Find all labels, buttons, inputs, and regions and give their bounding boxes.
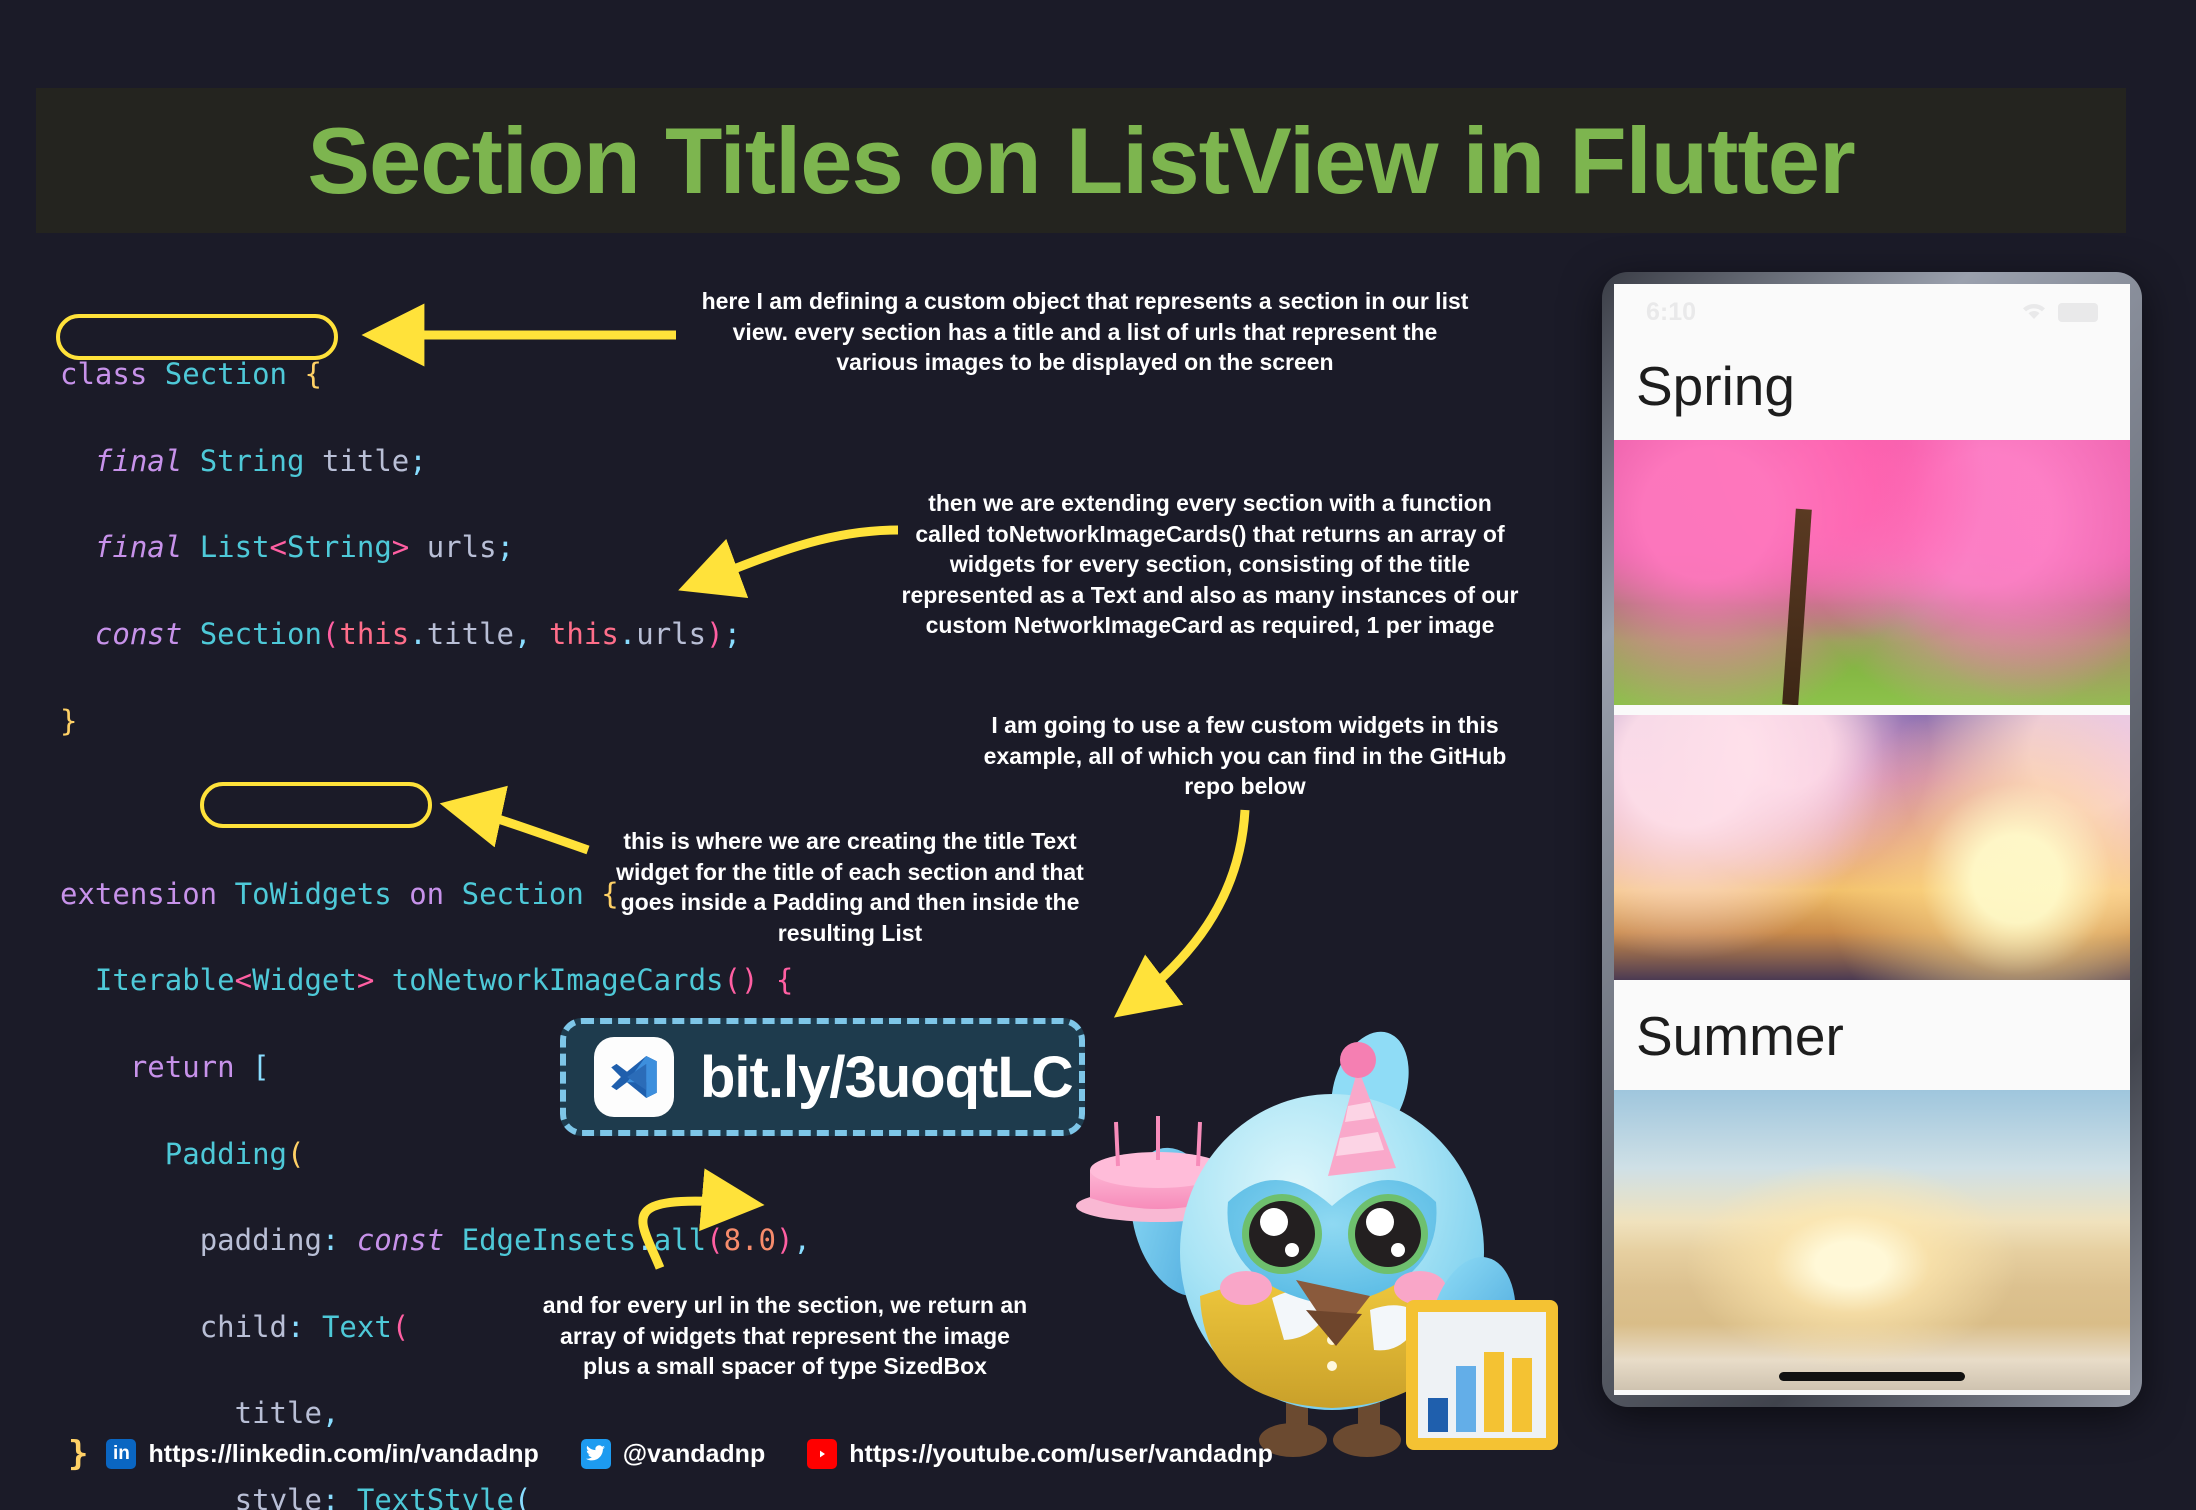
photo-beach-sunrise[interactable] <box>1614 1090 2130 1390</box>
annotation-extension: then we are extending every section with… <box>895 488 1525 641</box>
section-title-spring: Spring <box>1614 340 2130 440</box>
home-indicator[interactable] <box>1779 1372 1965 1381</box>
phone-screen: 6:10 Spring Summer <box>1614 284 2130 1395</box>
status-bar: 6:10 <box>1614 284 2130 340</box>
footer-links: } in https://linkedin.com/in/vandadnp @v… <box>68 1434 1273 1474</box>
vscode-icon <box>594 1037 674 1117</box>
twitter-icon[interactable] <box>581 1439 611 1469</box>
twitter-handle[interactable]: @vandadnp <box>623 1440 765 1469</box>
annotation-sizedbox: and for every url in the section, we ret… <box>540 1290 1030 1382</box>
annotation-class-section: here I am defining a custom object that … <box>700 286 1470 378</box>
flutter-bird-mascot <box>1040 1010 1560 1470</box>
status-right-cluster <box>2020 302 2098 322</box>
youtube-url[interactable]: https://youtube.com/user/vandadnp <box>849 1440 1273 1469</box>
linkedin-url[interactable]: https://linkedin.com/in/vandadnp <box>148 1440 538 1469</box>
battery-icon <box>2058 303 2098 322</box>
bar-chart-board <box>1406 1300 1558 1450</box>
status-time: 6:10 <box>1646 298 1696 327</box>
bird-blush-left <box>1220 1271 1272 1305</box>
linkedin-icon[interactable]: in <box>106 1439 136 1469</box>
wifi-icon <box>2020 302 2048 322</box>
section-title-summer: Summer <box>1614 990 2130 1090</box>
photo-cherry-blossom-park[interactable] <box>1614 440 2130 705</box>
annotation-custom-widgets: I am going to use a few custom widgets i… <box>960 710 1530 802</box>
annotation-title-text: this is where we are creating the title … <box>590 826 1110 948</box>
phone-mockup: 6:10 Spring Summer <box>1602 272 2142 1407</box>
bitly-url: bit.ly/3uoqtLC <box>700 1044 1073 1111</box>
youtube-icon[interactable] <box>807 1439 837 1469</box>
slide-root: Section Titles on ListView in Flutter cl… <box>0 0 2196 1510</box>
closing-brace: } <box>68 1434 88 1474</box>
photo-blossom-sunset[interactable] <box>1614 715 2130 980</box>
bitly-link-badge[interactable]: bit.ly/3uoqtLC <box>560 1018 1085 1136</box>
